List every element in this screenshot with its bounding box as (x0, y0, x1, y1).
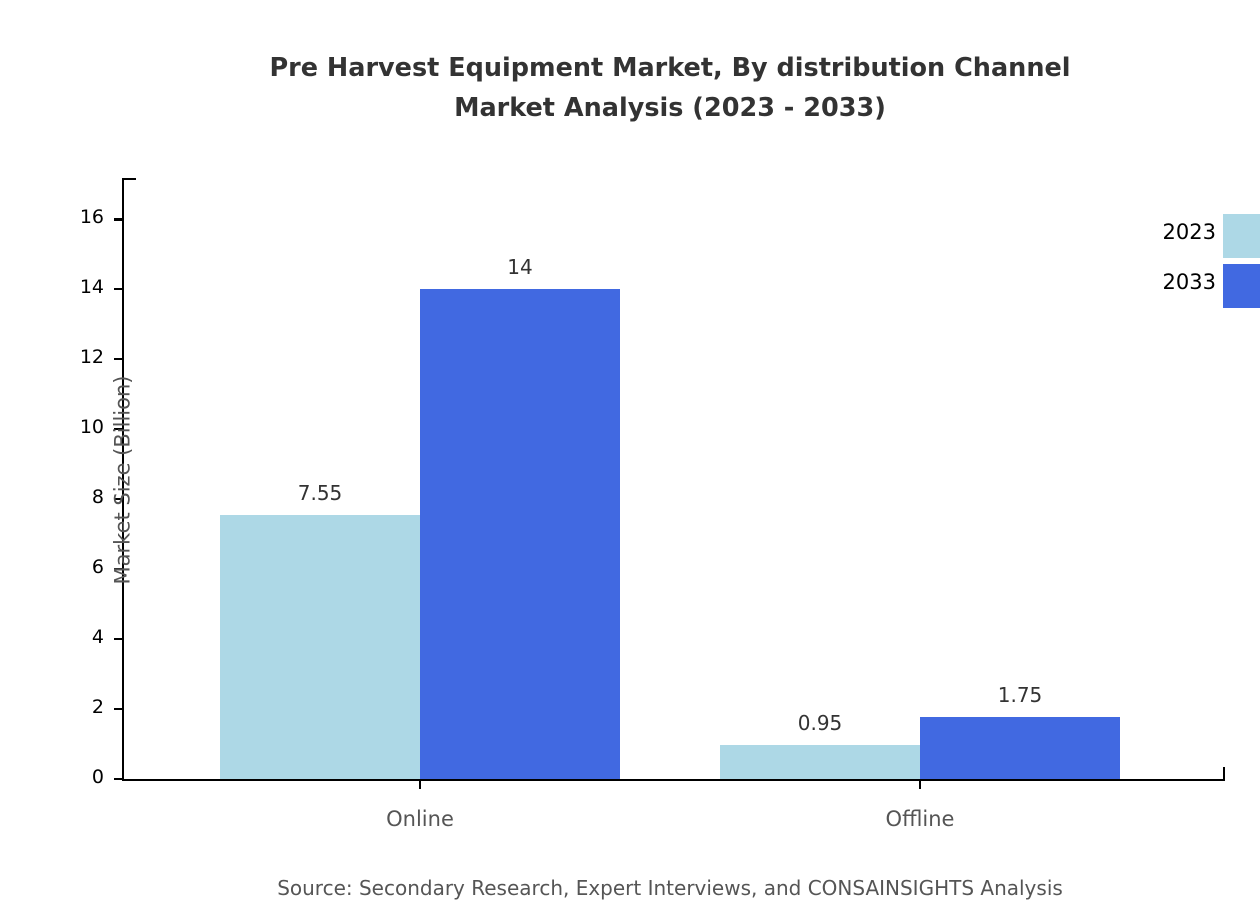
legend-label: 2033 (1130, 270, 1216, 294)
bar-value-label: 7.55 (298, 481, 343, 505)
bar-online-2033[interactable] (420, 289, 620, 778)
x-axis-tick-label-offline: Offline (886, 807, 955, 831)
chart-title-line-1: Pre Harvest Equipment Market, By distrib… (0, 48, 1260, 88)
y-axis-tick-label: 8 (62, 486, 104, 508)
y-axis-tick-label: 4 (62, 626, 104, 648)
y-axis-tick-mark (114, 778, 122, 780)
y-axis-top-cap (122, 178, 136, 180)
legend-label: 2023 (1130, 220, 1216, 244)
chart-title: Pre Harvest Equipment Market, By distrib… (0, 48, 1260, 128)
chart-figure: Pre Harvest Equipment Market, By distrib… (0, 0, 1260, 920)
legend-color-swatch (1223, 214, 1260, 258)
y-axis-tick-mark (114, 218, 122, 220)
y-axis-tick-label: 2 (62, 696, 104, 718)
y-axis-tick-mark (114, 638, 122, 640)
legend-color-swatch (1223, 264, 1260, 308)
x-axis-spine (122, 779, 1225, 781)
y-axis-tick-label: 0 (62, 766, 104, 788)
bar-value-label: 0.95 (798, 711, 843, 735)
chart-legend: 20232033 (1130, 214, 1260, 310)
y-axis-tick-label: 12 (62, 346, 104, 368)
bar-value-label: 1.75 (998, 683, 1043, 707)
bar-offline-2033[interactable] (920, 717, 1120, 778)
x-axis-tick-mark (419, 781, 421, 789)
y-axis-tick-mark (114, 288, 122, 290)
legend-item-2023[interactable]: 2023 (1130, 214, 1260, 258)
x-axis-tick-mark (919, 781, 921, 789)
legend-item-2033[interactable]: 2033 (1130, 264, 1260, 308)
bar-value-label: 14 (507, 255, 532, 279)
bar-online-2023[interactable] (220, 515, 420, 779)
y-axis-tick-label: 6 (62, 556, 104, 578)
y-axis-tick-mark (114, 708, 122, 710)
y-axis-tick-label: 10 (62, 416, 104, 438)
y-axis-tick-label: 16 (62, 206, 104, 228)
plot-area: 0246810121416 OnlineOffline 7.550.95141.… (122, 178, 1225, 781)
source-note: Source: Secondary Research, Expert Inter… (0, 876, 1260, 900)
y-axis-title: Market Size (Billion) (110, 375, 134, 584)
x-axis-tick-label-online: Online (386, 807, 454, 831)
y-axis-tick-mark (114, 358, 122, 360)
bar-offline-2023[interactable] (720, 745, 920, 778)
x-axis-right-cap (1223, 767, 1225, 781)
y-axis-tick-label: 14 (62, 276, 104, 298)
chart-title-line-2: Market Analysis (2023 - 2033) (0, 88, 1260, 128)
